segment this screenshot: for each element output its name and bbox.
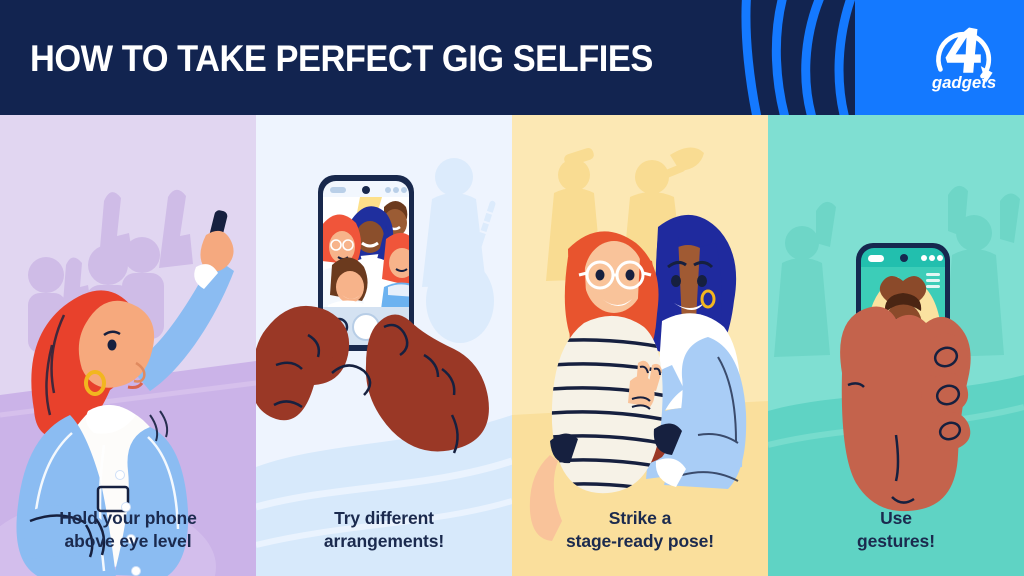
panel-use-gestures[interactable]: Use gestures! [768,115,1024,576]
panel-caption: Use gestures! [768,507,1024,554]
caption-line-2: stage-ready pose! [512,530,768,554]
caption-line-1: Hold your phone [0,507,256,531]
caption-line-2: arrangements! [256,530,512,554]
panel-try-arrangements[interactable]: Try different arrangements! [256,115,512,576]
caption-line-2: gestures! [768,530,1024,554]
infographic-canvas: HOW TO TAKE PERFECT GIG SELFIES gadgets [0,0,1024,576]
panel-hold-phone[interactable]: Hold your phone above eye level [0,115,256,576]
panel-caption: Try different arrangements! [256,507,512,554]
panel-stage-ready-pose[interactable]: Strike a stage-ready pose! [512,115,768,576]
caption-line-1: Strike a [512,507,768,531]
caption-line-1: Try different [256,507,512,531]
header-bar: HOW TO TAKE PERFECT GIG SELFIES gadgets [0,0,1024,115]
panel-caption: Strike a stage-ready pose! [512,507,768,554]
4gadgets-logo[interactable]: gadgets [922,14,1006,98]
logo-wordmark: gadgets [931,73,996,92]
caption-line-1: Use [768,507,1024,531]
panel-row: Hold your phone above eye level [0,115,1024,576]
header-swoosh-stripes [740,0,890,115]
page-title: HOW TO TAKE PERFECT GIG SELFIES [30,38,653,80]
caption-line-2: above eye level [0,530,256,554]
panel-caption: Hold your phone above eye level [0,507,256,554]
